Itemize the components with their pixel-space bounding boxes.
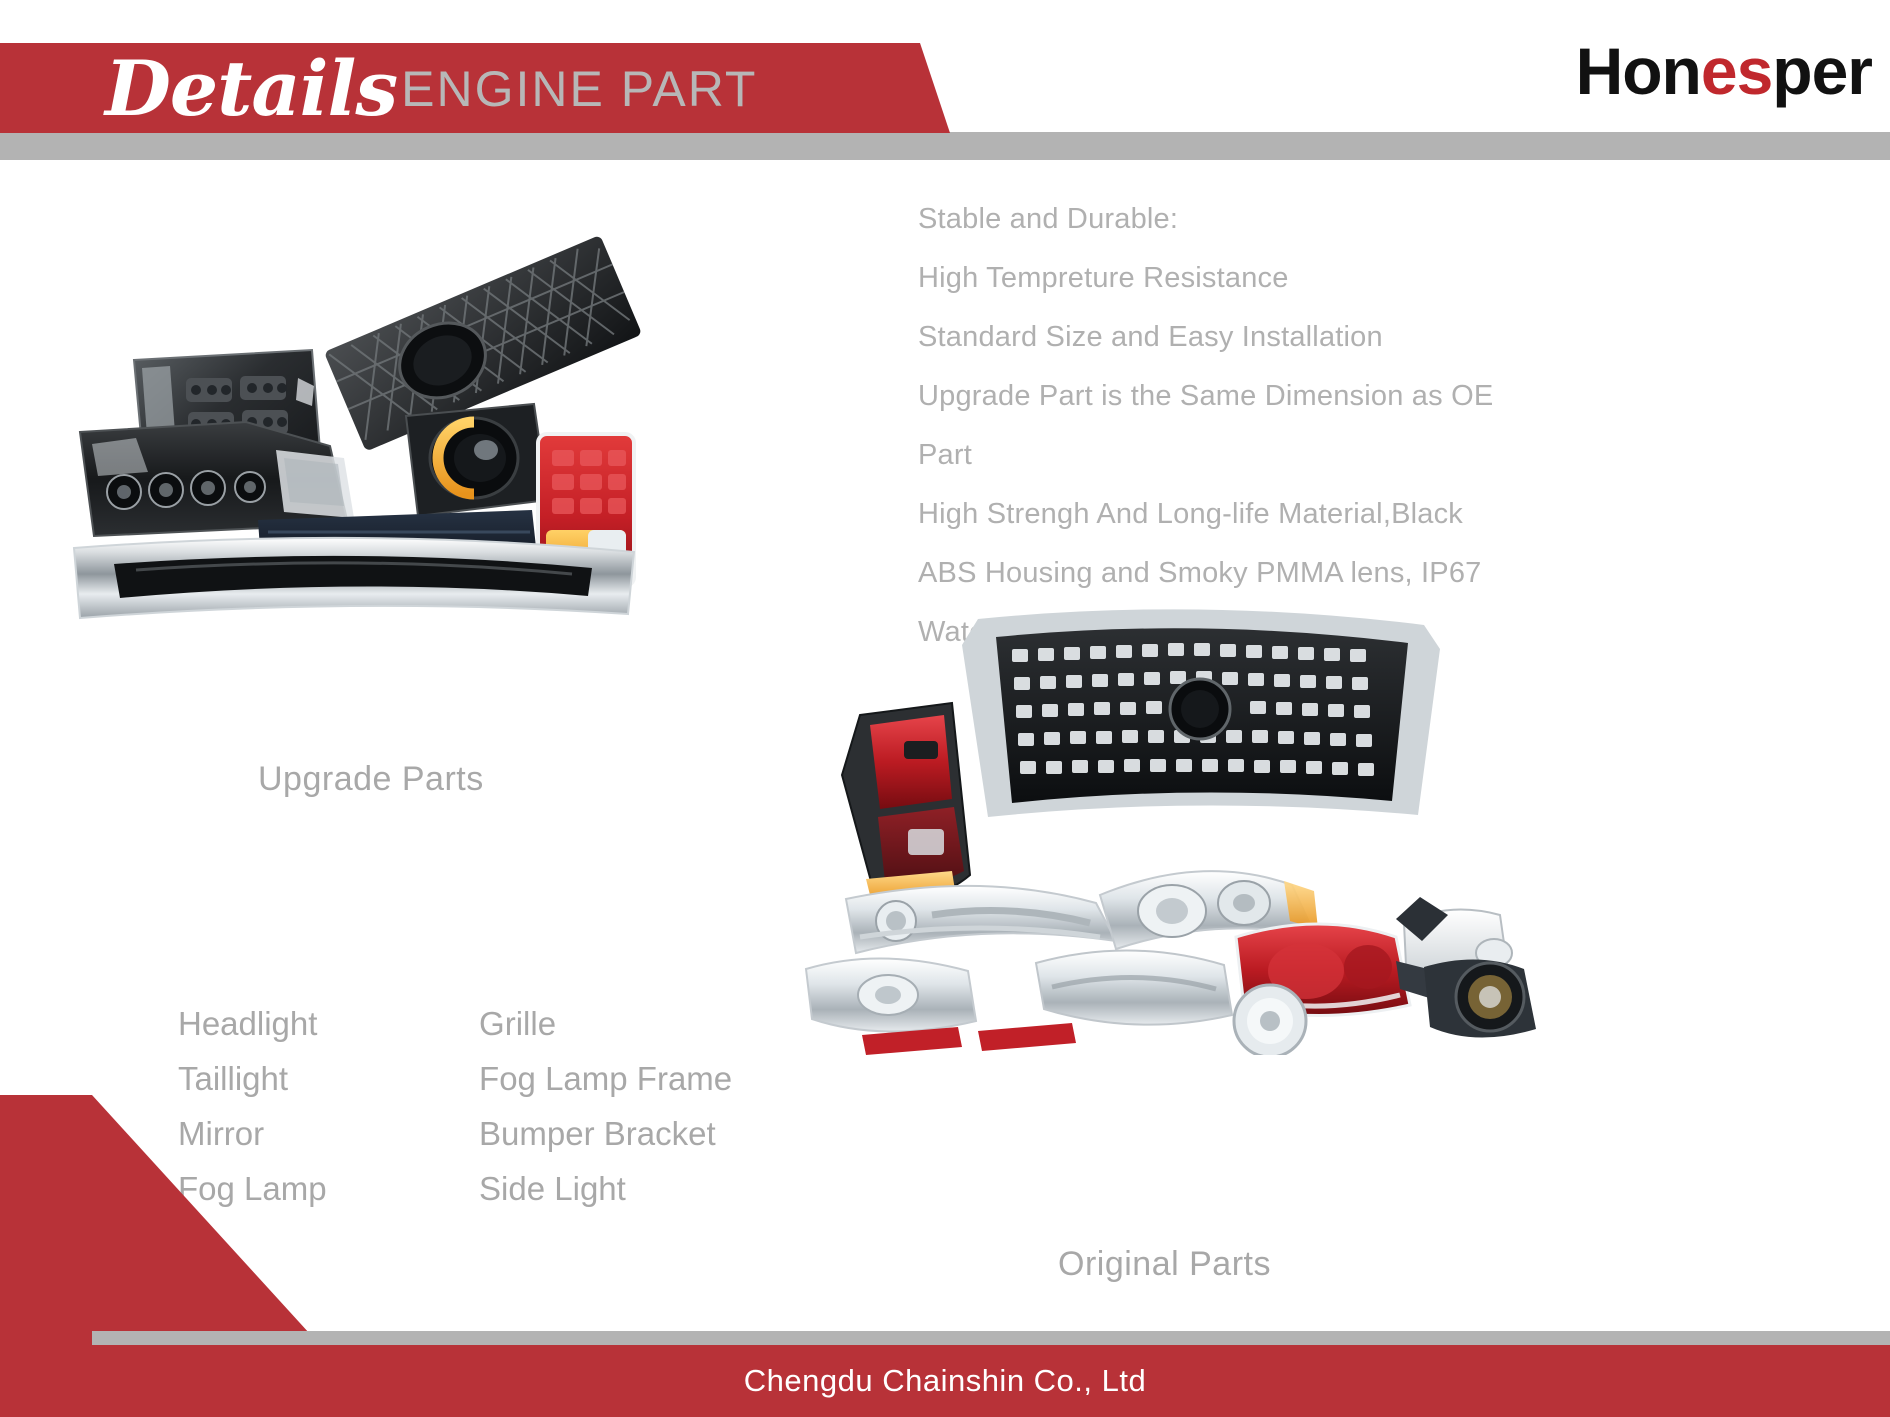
part-item-fog-lamp-frame: Fog Lamp Frame — [479, 1051, 738, 1106]
upgrade-parts-illustration: TOYOTA — [62, 200, 662, 630]
feature-line-4: Upgrade Part is the Same Dimension as OE — [918, 367, 1558, 426]
brand-logo: Honesper — [1576, 38, 1872, 104]
original-fog-lamp-clear — [806, 958, 976, 1031]
upgrade-chrome-bumper — [74, 538, 634, 618]
part-item-taillight: Taillight — [178, 1051, 417, 1106]
page-title: Details — [105, 51, 397, 127]
original-parts-illustration — [800, 585, 1590, 1055]
feature-line-2: High Tempreture Resistance — [918, 249, 1558, 308]
parts-list: Headlight Taillight Mirror Fog Lamp Gril… — [178, 996, 738, 1216]
part-item-mirror: Mirror — [178, 1106, 417, 1161]
upgrade-parts-caption: Upgrade Parts — [258, 760, 484, 799]
feature-line-1: Stable and Durable: — [918, 190, 1558, 249]
brand-logo-accent: es — [1701, 34, 1772, 108]
parts-column-left: Headlight Taillight Mirror Fog Lamp — [178, 996, 417, 1216]
feature-line-3: Standard Size and Easy Installation — [918, 308, 1558, 367]
original-parts-photo — [800, 585, 1590, 1055]
original-chrome-cover — [1036, 950, 1232, 1024]
page-header: Details ENGINE PART Honesper — [0, 0, 1890, 160]
part-item-side-light: Side Light — [479, 1161, 738, 1216]
upgrade-fog-lamp-frame — [406, 404, 548, 516]
original-parts-caption: Original Parts — [1058, 1245, 1271, 1284]
feature-line-5: Part — [918, 426, 1558, 485]
original-grille — [962, 609, 1440, 817]
header-title-group: Details ENGINE PART — [105, 44, 757, 134]
part-item-headlight: Headlight — [178, 996, 417, 1051]
parts-column-right: Grille Fog Lamp Frame Bumper Bracket Sid… — [479, 996, 738, 1216]
feature-line-6: High Strengh And Long-life Material,Blac… — [918, 485, 1558, 544]
footer-company-name: Chengdu Chainshin Co., Ltd — [744, 1363, 1146, 1399]
page-subtitle: ENGINE PART — [401, 64, 757, 114]
original-round-fog-lamp — [1234, 985, 1306, 1055]
product-detail-page: Details ENGINE PART Honesper — [0, 0, 1890, 1417]
page-footer: Chengdu Chainshin Co., Ltd — [0, 1345, 1890, 1417]
brand-logo-prefix: Hon — [1576, 34, 1701, 108]
header-gray-bar — [0, 132, 1890, 160]
upgrade-parts-photo: TOYOTA — [62, 200, 662, 630]
part-item-fog-lamp: Fog Lamp — [178, 1161, 417, 1216]
original-taillight — [842, 703, 970, 907]
footer-gray-bar — [92, 1331, 1890, 1345]
brand-logo-suffix: per — [1772, 34, 1872, 108]
original-headlight-left — [846, 886, 1116, 953]
original-fog-lamp-bezel — [1424, 959, 1536, 1037]
part-item-bumper-bracket: Bumper Bracket — [479, 1106, 738, 1161]
part-item-grille: Grille — [479, 996, 738, 1051]
